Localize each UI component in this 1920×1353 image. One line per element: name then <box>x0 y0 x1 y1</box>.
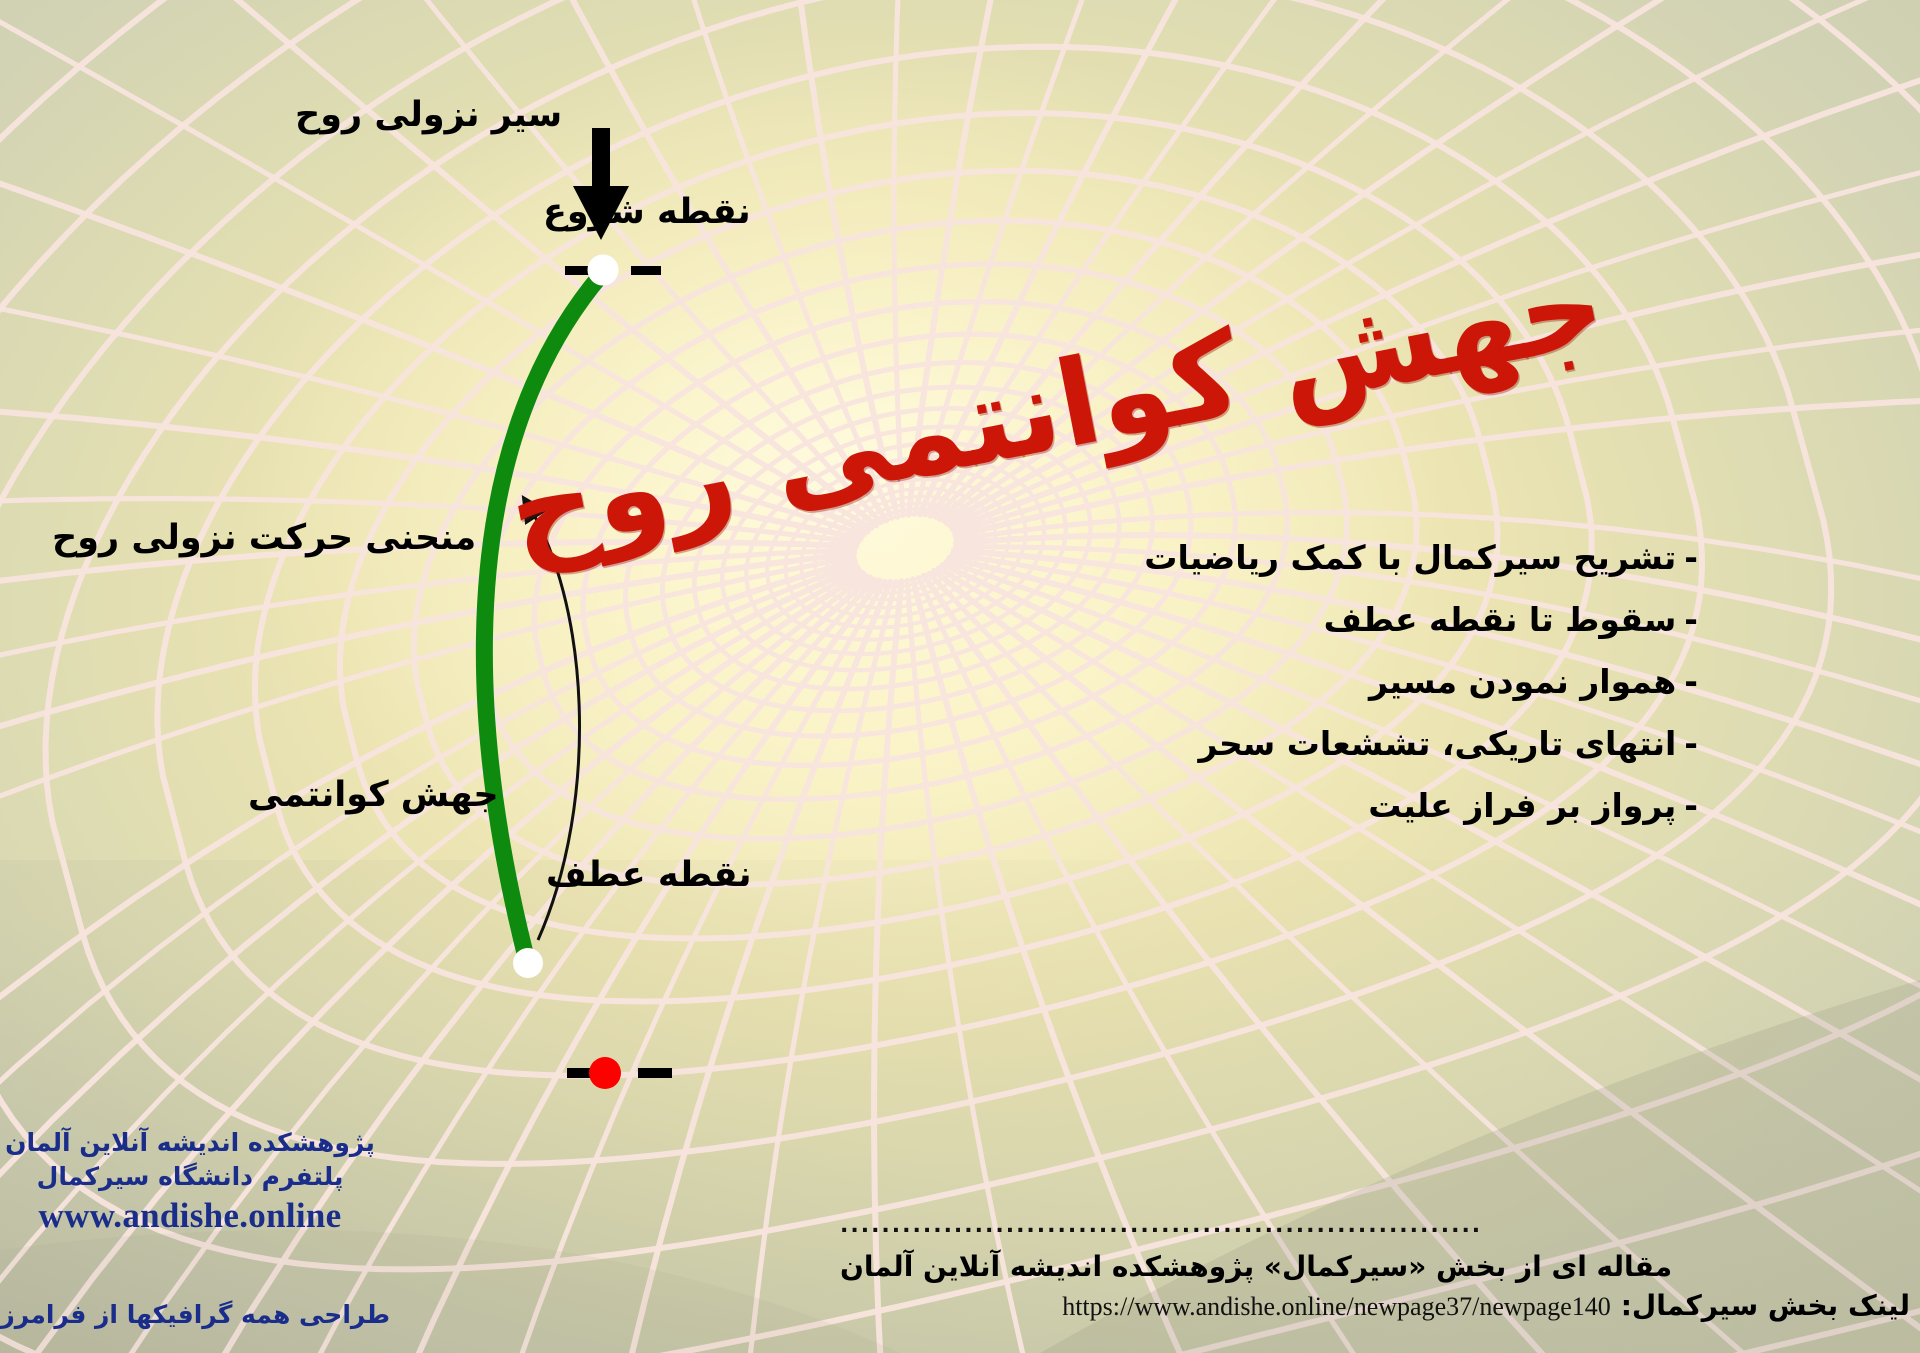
start-point-label: نقطه شروع <box>543 192 751 232</box>
bullet-dash-icon: - <box>1684 538 1698 577</box>
bullet-dash-icon: - <box>1684 724 1698 763</box>
article-link-row: لینک بخش سیرکمال: https://www.andishe.on… <box>840 1289 1910 1322</box>
institute-footer: پژوهشکده اندیشه آنلاین آلمان پلتفرم دانش… <box>0 1126 380 1236</box>
list-item-label: سقوط تا نقطه عطف <box>1324 600 1677 639</box>
quantum-jump-label: جهش کوانتمی <box>248 775 499 815</box>
descent-label: سیر نزولی روح <box>295 95 562 135</box>
topics-list: -تشریح سیرکمال با کمک ریاضیات -سقوط تا ن… <box>958 538 1698 848</box>
poster-canvas: سیر نزولی روح نقطه شروع منحنی حرکت نزولی… <box>0 0 1920 1353</box>
inflection-point-label: نقطه عطف <box>546 855 752 895</box>
article-source-line: مقاله ای از بخش «سیرکمال» پژوهشکده اندیش… <box>840 1250 1910 1283</box>
article-link-url[interactable]: https://www.andishe.online/newpage37/new… <box>1062 1292 1611 1322</box>
list-item: -تشریح سیرکمال با کمک ریاضیات <box>958 538 1698 577</box>
institute-name: پژوهشکده اندیشه آنلاین آلمان <box>0 1126 380 1160</box>
list-item-label: هموار نمودن مسیر <box>1369 662 1676 701</box>
graphics-credit: طراحی همه گرافیکها از فرامرز تابش <box>0 1300 390 1329</box>
bullet-dash-icon: - <box>1684 600 1698 639</box>
list-item-label: انتهای تاریکی، تششعات سحر <box>1198 724 1676 763</box>
list-item: -هموار نمودن مسیر <box>958 662 1698 701</box>
platform-name: پلتفرم دانشگاه سیرکمال <box>0 1160 380 1194</box>
website-link[interactable]: www.andishe.online <box>0 1196 380 1236</box>
article-source-footer: ........................................… <box>840 1216 1910 1322</box>
list-item-label: تشریح سیرکمال با کمک ریاضیات <box>1144 538 1676 577</box>
bullet-dash-icon: - <box>1684 786 1698 825</box>
bullet-dash-icon: - <box>1684 662 1698 701</box>
list-item: -سقوط تا نقطه عطف <box>958 600 1698 639</box>
descent-curve-label: منحنی حرکت نزولی روح <box>52 518 476 558</box>
article-link-label: لینک بخش سیرکمال: <box>1621 1289 1910 1322</box>
list-item-label: پرواز بر فراز علیت <box>1368 786 1676 825</box>
list-item: -پرواز بر فراز علیت <box>958 786 1698 825</box>
list-item: -انتهای تاریکی، تششعات سحر <box>958 724 1698 763</box>
dotted-divider: ........................................… <box>840 1216 1910 1238</box>
